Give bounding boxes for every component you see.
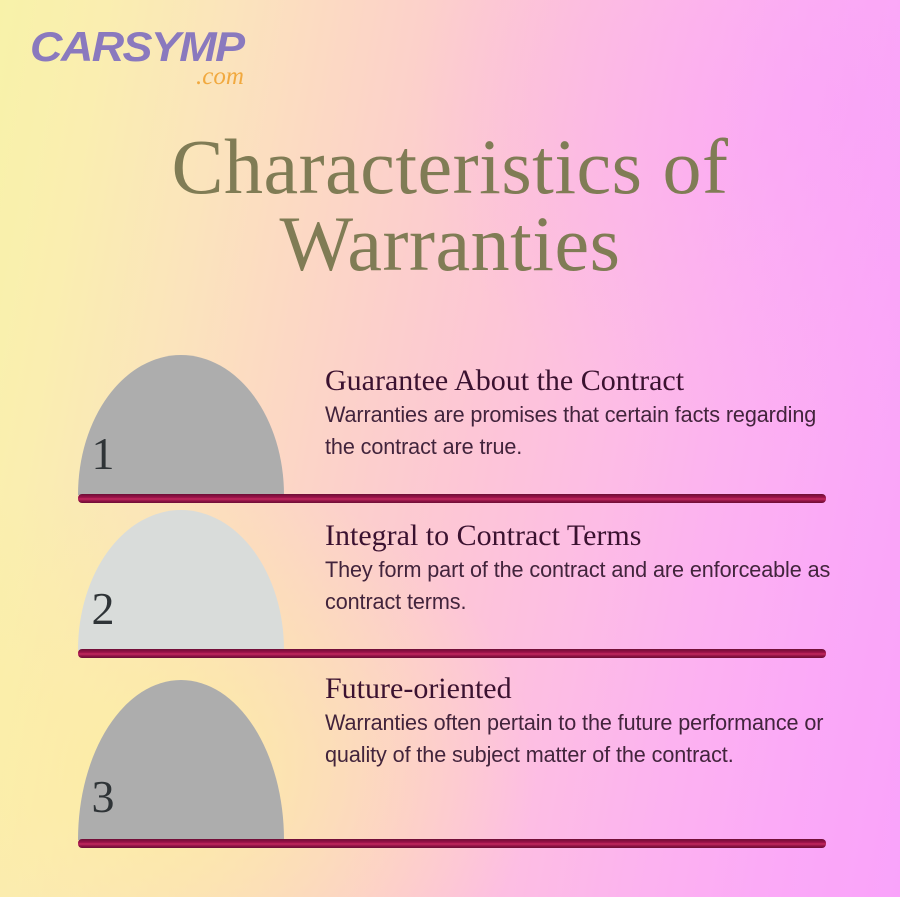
item-body: They form part of the contract and are e… [325,554,839,618]
item-divider-bar [78,494,826,503]
item-body: Warranties are promises that certain fac… [325,399,839,463]
infographic-poster: CARSYMP .com Characteristics of Warranti… [0,0,900,897]
brand-logo-domain: .com [196,64,244,89]
characteristics-list: 1 Guarantee About the Contract Warrantie… [0,348,900,848]
item-text-column: Integral to Contract Terms They form par… [325,519,860,618]
item-divider-bar [78,839,826,848]
item-divider-bar [78,649,826,658]
item-text-column: Future-oriented Warranties often pertain… [325,672,860,771]
list-item: 1 Guarantee About the Contract Warrantie… [0,348,900,503]
item-body: Warranties often pertain to the future p… [325,707,839,771]
item-number: 3 [0,774,206,820]
item-heading: Future-oriented [325,672,860,705]
item-text-column: Guarantee About the Contract Warranties … [325,364,860,463]
page-title: Characteristics of Warranties [0,128,900,282]
brand-logo[interactable]: CARSYMP .com [30,26,330,96]
list-item: 2 Integral to Contract Terms They form p… [0,503,900,658]
brand-logo-wordmark: CARSYMP [30,26,351,68]
item-number: 1 [0,431,206,477]
item-number: 2 [0,586,206,632]
item-heading: Guarantee About the Contract [325,364,860,397]
item-heading: Integral to Contract Terms [325,519,860,552]
list-item: 3 Future-oriented Warranties often perta… [0,658,900,848]
